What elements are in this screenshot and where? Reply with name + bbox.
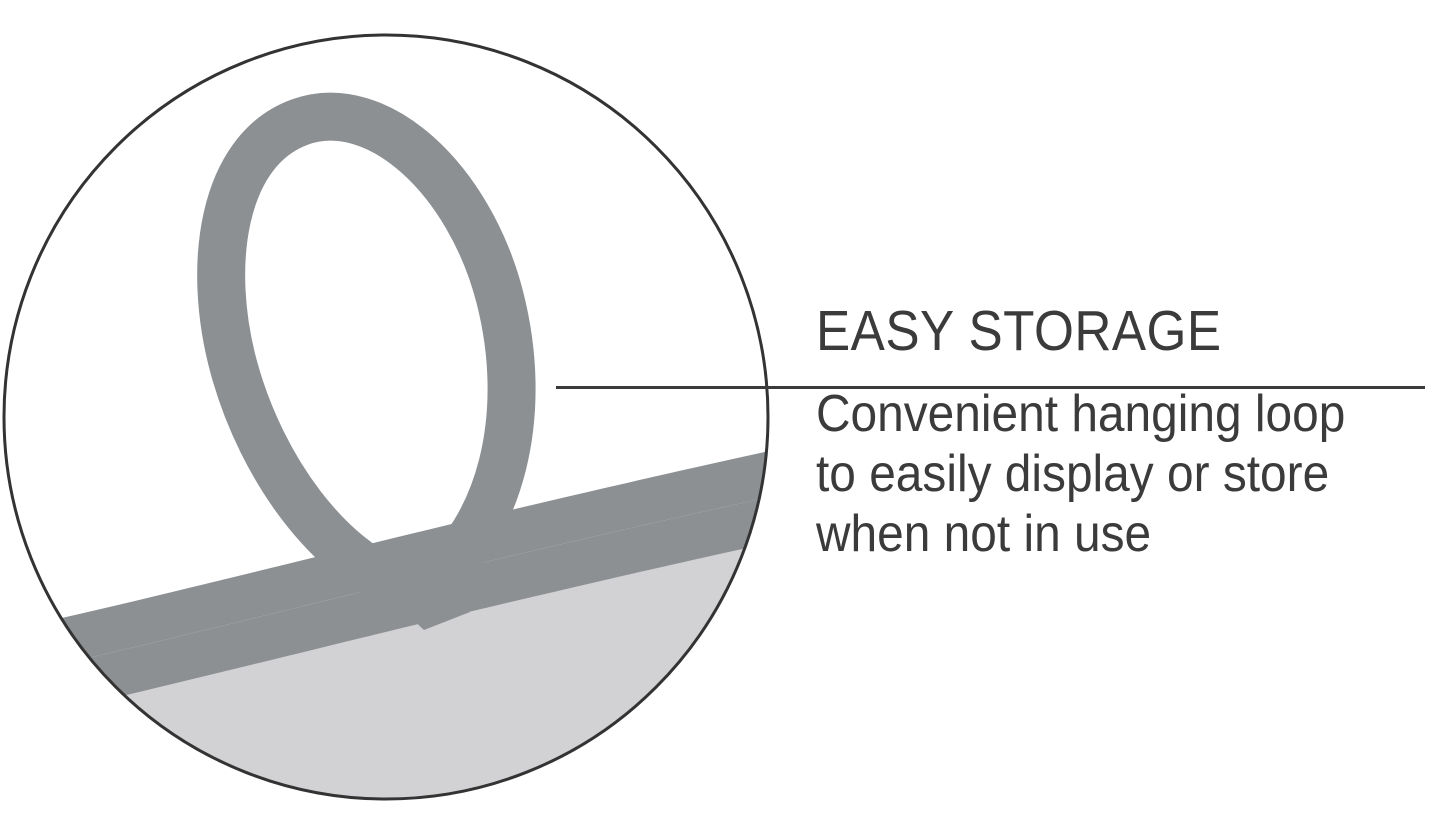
callout-title: EASY STORAGE	[816, 300, 1356, 362]
hanging-loop-illustration	[0, 0, 800, 831]
callout-text-block: EASY STORAGE Convenient hanging loop to …	[816, 300, 1416, 564]
illustration-svg	[0, 0, 800, 831]
callout-body-line-3: when not in use	[816, 504, 1368, 564]
loop-group	[221, 117, 511, 630]
callout-body-line-1: Convenient hanging loop	[816, 384, 1368, 444]
loop-shape	[221, 117, 511, 585]
callout-body: Convenient hanging loop to easily displa…	[816, 362, 1368, 564]
callout-body-line-2: to easily display or store	[816, 444, 1368, 504]
feature-callout-page: EASY STORAGE Convenient hanging loop to …	[0, 0, 1429, 831]
